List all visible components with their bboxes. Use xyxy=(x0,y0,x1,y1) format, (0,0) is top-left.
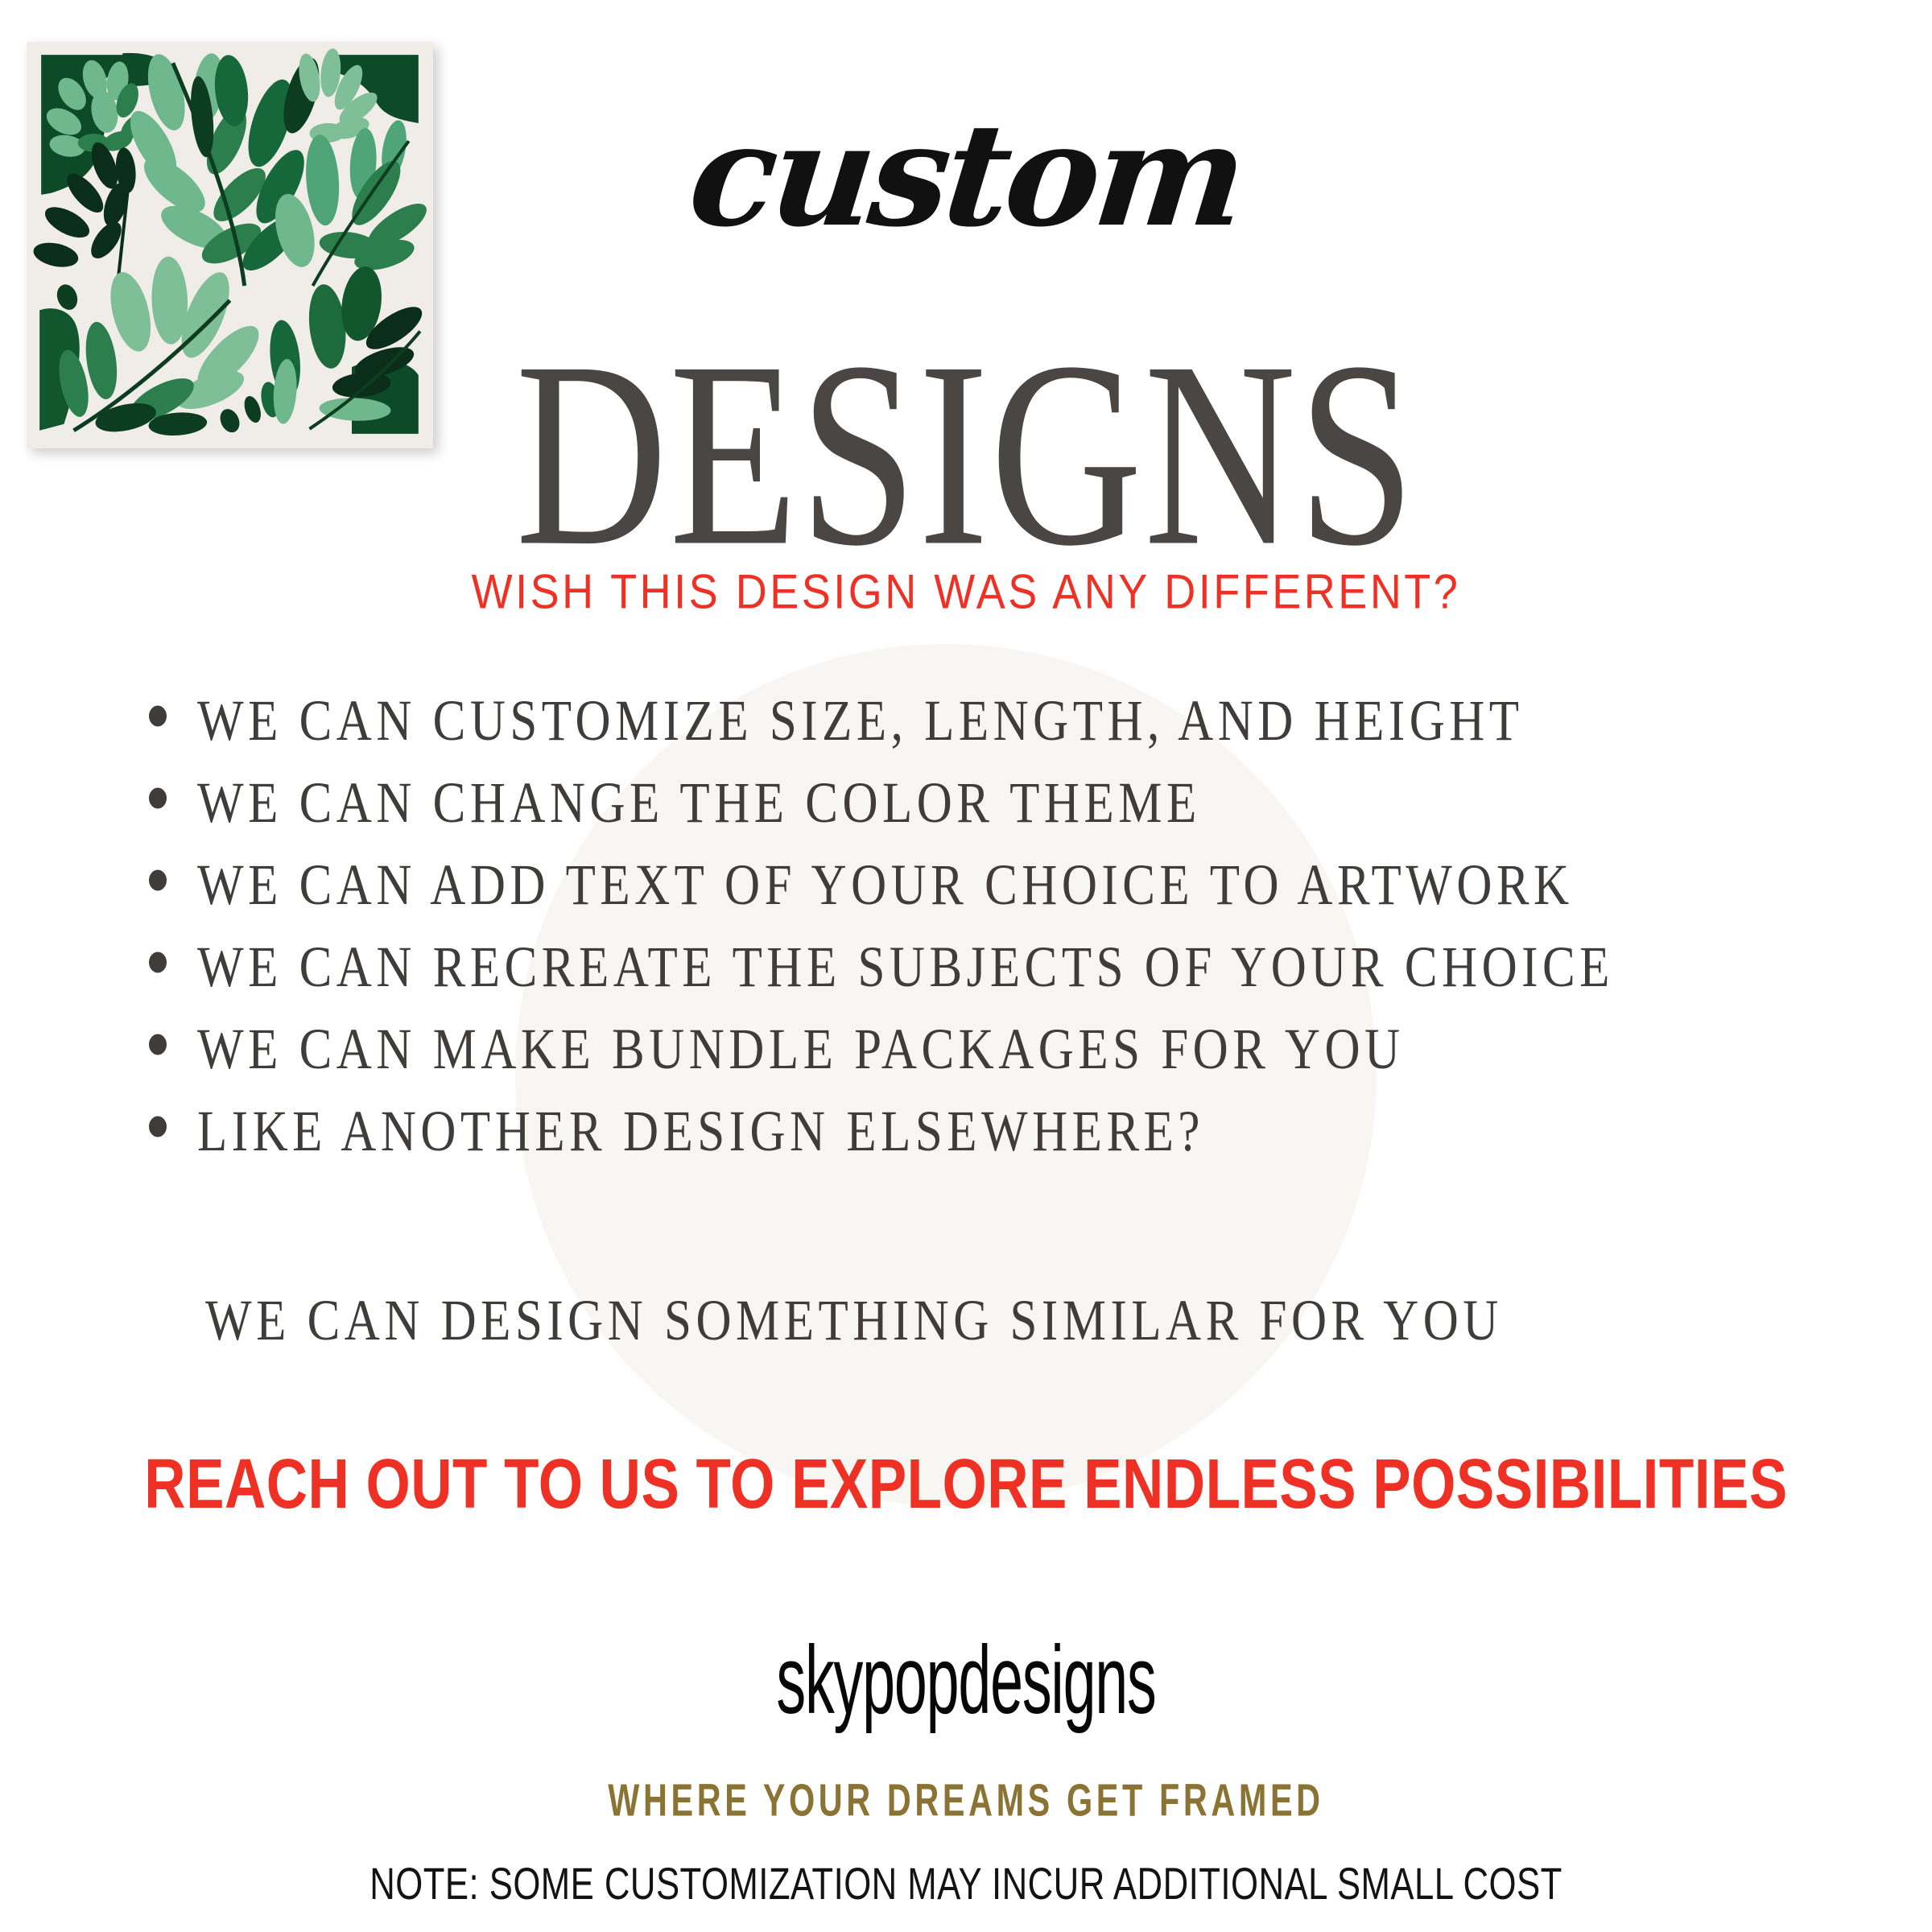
list-item-label: WE CAN ADD TEXT OF YOUR CHOICE TO ARTWOR… xyxy=(197,857,1791,914)
list-item: WE CAN CHANGE THE COLOR THEME xyxy=(149,774,1791,832)
bullet-dot-icon xyxy=(149,788,167,809)
artwork-thumbnail xyxy=(27,42,433,448)
list-item-label: WE CAN MAKE BUNDLE PACKAGES FOR YOU xyxy=(197,1021,1791,1079)
brand-tagline: WHERE YOUR DREAMS GET FRAMED xyxy=(77,1777,1855,1823)
list-item-label: WE CAN CUSTOMIZE SIZE, LENGTH, AND HEIGH… xyxy=(197,692,1791,750)
call-to-action: REACH OUT TO US TO EXPLORE ENDLESS POSSI… xyxy=(39,1449,1893,1519)
bullet-dot-icon xyxy=(149,870,167,891)
bullet-dot-icon xyxy=(149,706,167,727)
botanical-leaves-icon xyxy=(27,42,433,448)
list-item: WE CAN ADD TEXT OF YOUR CHOICE TO ARTWOR… xyxy=(149,857,1791,914)
feature-list: WE CAN CUSTOMIZE SIZE, LENGTH, AND HEIGH… xyxy=(149,692,1791,1185)
brand-logo: skypopdesigns xyxy=(193,1633,1739,1729)
bullet-dot-icon xyxy=(149,1034,167,1055)
list-item-label: WE CAN RECREATE THE SUBJECTS OF YOUR CHO… xyxy=(197,939,1791,997)
bullet-dot-icon xyxy=(149,952,167,973)
list-item-label: WE CAN CHANGE THE COLOR THEME xyxy=(197,774,1791,832)
list-item-label: LIKE ANOTHER DESIGN ELSEWHERE? xyxy=(197,1103,1791,1161)
list-item: WE CAN MAKE BUNDLE PACKAGES FOR YOU xyxy=(149,1021,1791,1079)
subheading: WISH THIS DESIGN WAS ANY DIFFERENT? xyxy=(0,568,1932,616)
list-item: WE CAN RECREATE THE SUBJECTS OF YOUR CHO… xyxy=(149,939,1791,997)
bullet-dot-icon xyxy=(149,1117,167,1137)
list-item: LIKE ANOTHER DESIGN ELSEWHERE? xyxy=(149,1103,1791,1161)
list-item: WE CAN CUSTOMIZE SIZE, LENGTH, AND HEIGH… xyxy=(149,692,1791,750)
footnote: NOTE: SOME CUSTOMIZATION MAY INCUR ADDIT… xyxy=(68,1861,1864,1905)
list-item-continuation: WE CAN DESIGN SOMETHING SIMILAR FOR YOU xyxy=(205,1292,1503,1350)
